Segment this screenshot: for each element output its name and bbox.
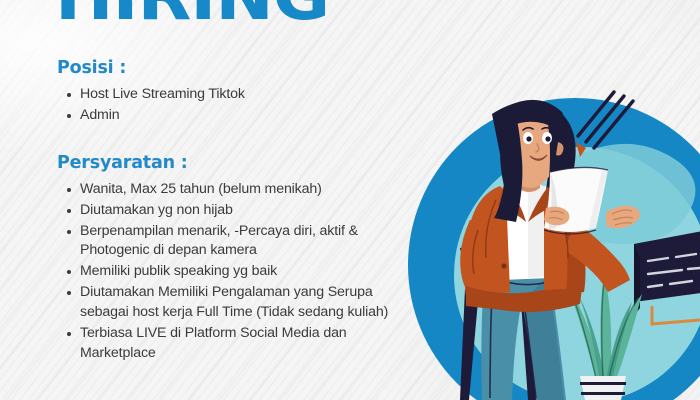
persyaratan-list: Wanita, Max 25 tahun (belum menikah) Diu…	[57, 180, 402, 364]
section-heading-posisi: Posisi :	[57, 58, 402, 78]
list-item: Host Live Streaming Tiktok	[57, 85, 402, 105]
section-heading-persyaratan: Persyaratan :	[57, 153, 402, 173]
list-item: Memiliki publik speaking yg baik	[57, 262, 402, 282]
woman-live-streaming-illustration	[400, 80, 700, 400]
list-item: Diutamakan yg non hijab	[57, 201, 402, 221]
list-item: Terbiasa LIVE di Platform Social Media d…	[57, 324, 402, 364]
section-spacer	[57, 127, 402, 153]
list-item: Wanita, Max 25 tahun (belum menikah)	[57, 180, 402, 200]
list-item: Diutamakan Memiliki Pengalaman yang Seru…	[57, 283, 402, 323]
list-item: Admin	[57, 106, 402, 126]
list-item: Berpenampilan menarik, -Percaya diri, ak…	[57, 222, 402, 262]
poster-content: Posisi : Host Live Streaming Tiktok Admi…	[57, 58, 402, 365]
hiring-poster: HIRING Posisi : Host Live Streaming Tikt…	[0, 0, 700, 400]
page-title: HIRING	[55, 0, 329, 30]
posisi-list: Host Live Streaming Tiktok Admin	[57, 85, 402, 126]
